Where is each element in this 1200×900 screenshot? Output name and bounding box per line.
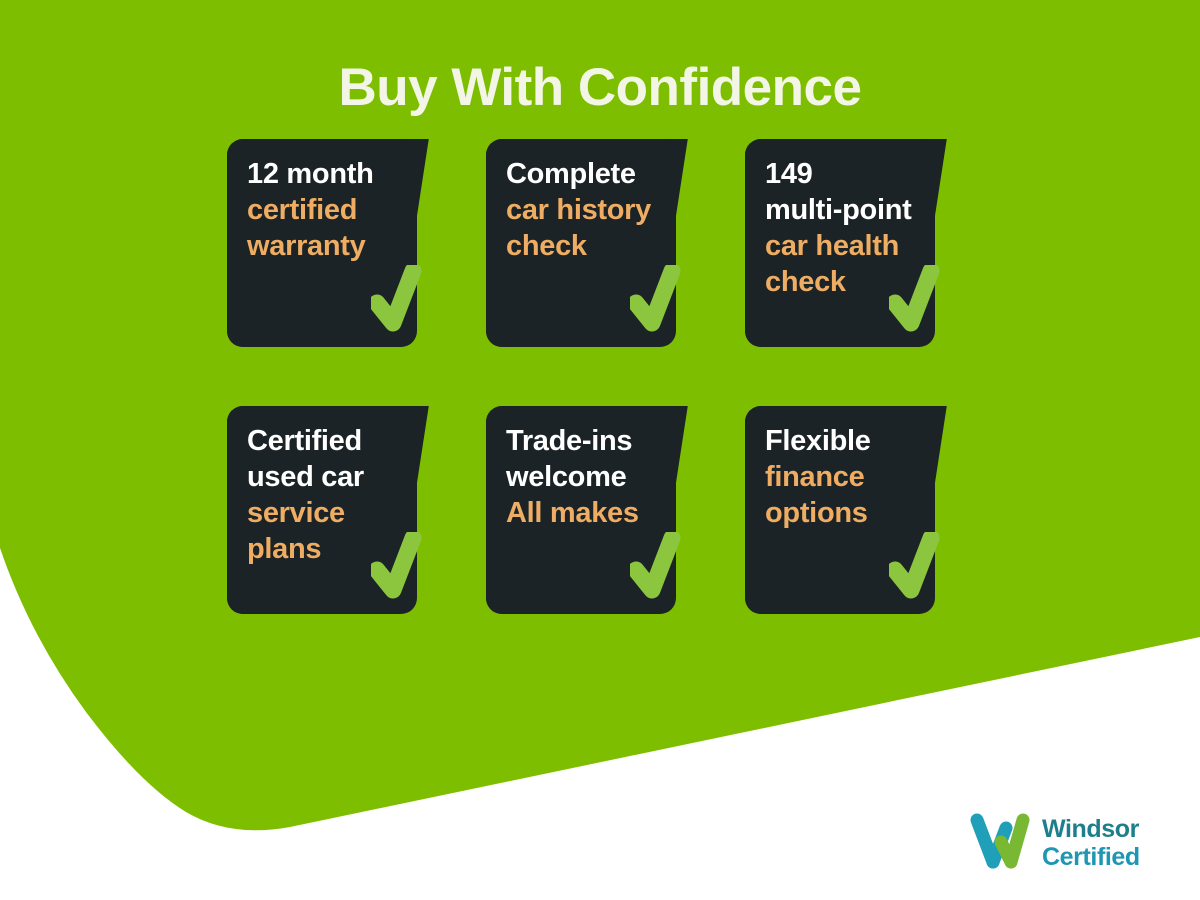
card-text: Trade-ins welcome All makes <box>506 423 684 531</box>
feature-card-service[interactable]: Certified used car service plans <box>227 406 455 614</box>
card-line-primary: multi-point <box>765 192 943 228</box>
page-title: Buy With Confidence <box>0 58 1200 118</box>
card-line-primary: Certified <box>247 423 425 459</box>
card-line-accent: finance <box>765 459 943 495</box>
card-line-accent: check <box>506 228 684 264</box>
feature-card-finance[interactable]: Flexible finance options <box>745 406 973 614</box>
card-line-accent: All makes <box>506 495 684 531</box>
windsor-w-check-icon <box>968 812 1034 874</box>
feature-card-grid: 12 month certified warranty Complete car… <box>227 139 973 614</box>
card-text: Complete car history check <box>506 156 684 264</box>
check-icon <box>371 265 433 339</box>
card-line-accent: service <box>247 495 425 531</box>
logo-word-certified: Certified <box>1042 843 1140 871</box>
check-icon <box>889 265 951 339</box>
windsor-certified-logo[interactable]: Windsor Certified <box>968 808 1168 878</box>
card-text: Flexible finance options <box>765 423 943 531</box>
check-icon <box>371 532 433 606</box>
card-line-primary: Complete <box>506 156 684 192</box>
card-line-primary: welcome <box>506 459 684 495</box>
card-line-primary: Trade-ins <box>506 423 684 459</box>
feature-card-tradeins[interactable]: Trade-ins welcome All makes <box>486 406 714 614</box>
check-icon <box>630 532 692 606</box>
check-icon <box>889 532 951 606</box>
card-line-primary: used car <box>247 459 425 495</box>
logo-wordmark: Windsor Certified <box>1042 815 1140 871</box>
card-text: 12 month certified warranty <box>247 156 425 264</box>
poster-canvas: Buy With Confidence 12 month certified w… <box>0 0 1200 900</box>
logo-word-windsor: Windsor <box>1042 815 1140 843</box>
card-line-primary: 12 month <box>247 156 425 192</box>
card-line-accent: warranty <box>247 228 425 264</box>
card-line-primary: Flexible <box>765 423 943 459</box>
feature-card-history[interactable]: Complete car history check <box>486 139 714 347</box>
feature-card-health[interactable]: 149 multi-point car health check <box>745 139 973 347</box>
card-line-accent: car health <box>765 228 943 264</box>
card-line-accent: certified <box>247 192 425 228</box>
card-line-primary: 149 <box>765 156 943 192</box>
feature-card-warranty[interactable]: 12 month certified warranty <box>227 139 455 347</box>
card-line-accent: car history <box>506 192 684 228</box>
card-line-accent: options <box>765 495 943 531</box>
check-icon <box>630 265 692 339</box>
